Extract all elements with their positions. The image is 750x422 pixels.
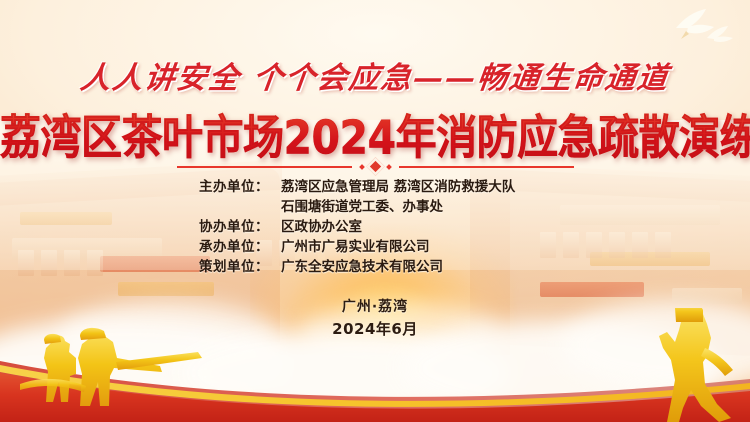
dove-icon	[705, 25, 735, 47]
ornament-diamond	[366, 157, 384, 175]
divider	[0, 160, 750, 173]
footer-date: 2024年6月	[0, 318, 750, 340]
divider-rule-left	[177, 166, 352, 168]
shop-sign	[118, 282, 214, 296]
organizer-value: 荔湾区应急管理局 荔湾区消防救援大队	[281, 178, 551, 197]
ornament-dot	[386, 164, 392, 170]
diamond-ornament-icon	[360, 160, 391, 173]
organizer-label: 承办单位：	[199, 238, 281, 257]
footer-block: 广州·荔湾 2024年6月	[0, 296, 750, 340]
organizer-row-continuation: 主办单位： 石围塘街道党工委、办事处	[199, 198, 551, 217]
divider-rule-right	[399, 166, 574, 168]
organizer-list: 主办单位： 荔湾区应急管理局 荔湾区消防救援大队 主办单位： 石围塘街道党工委、…	[0, 178, 750, 277]
organizer-value: 广东全安应急技术有限公司	[281, 258, 551, 277]
organizer-row: 承办单位： 广州市广易实业有限公司	[199, 238, 551, 257]
organizer-row: 主办单位： 荔湾区应急管理局 荔湾区消防救援大队	[199, 178, 551, 197]
shop-sign	[540, 282, 644, 297]
ornament-dot	[359, 164, 365, 170]
organizer-value: 区政协办公室	[281, 218, 551, 237]
poster-canvas: 人人讲安全 个个会应急——畅通生命通道 荔湾区茶叶市场2024年消防应急疏散演练…	[0, 0, 750, 422]
organizer-value: 广州市广易实业有限公司	[281, 238, 551, 257]
organizer-row: 策划单位： 广东全安应急技术有限公司	[199, 258, 551, 277]
organizer-row: 协办单位： 区政协办公室	[199, 218, 551, 237]
footer-place: 广州·荔湾	[0, 296, 750, 318]
poster-subtitle: 人人讲安全 个个会应急——畅通生命通道	[78, 53, 672, 97]
main-title-row: 荔湾区茶叶市场2024年消防应急疏散演练	[0, 103, 750, 163]
organizer-value: 石围塘街道党工委、办事处	[281, 198, 551, 217]
subtitle-row: 人人讲安全 个个会应急——畅通生命通道	[0, 53, 750, 97]
organizer-label: 协办单位：	[199, 218, 281, 237]
organizer-label: 主办单位：	[199, 178, 281, 197]
organizer-label: 策划单位：	[199, 258, 281, 277]
